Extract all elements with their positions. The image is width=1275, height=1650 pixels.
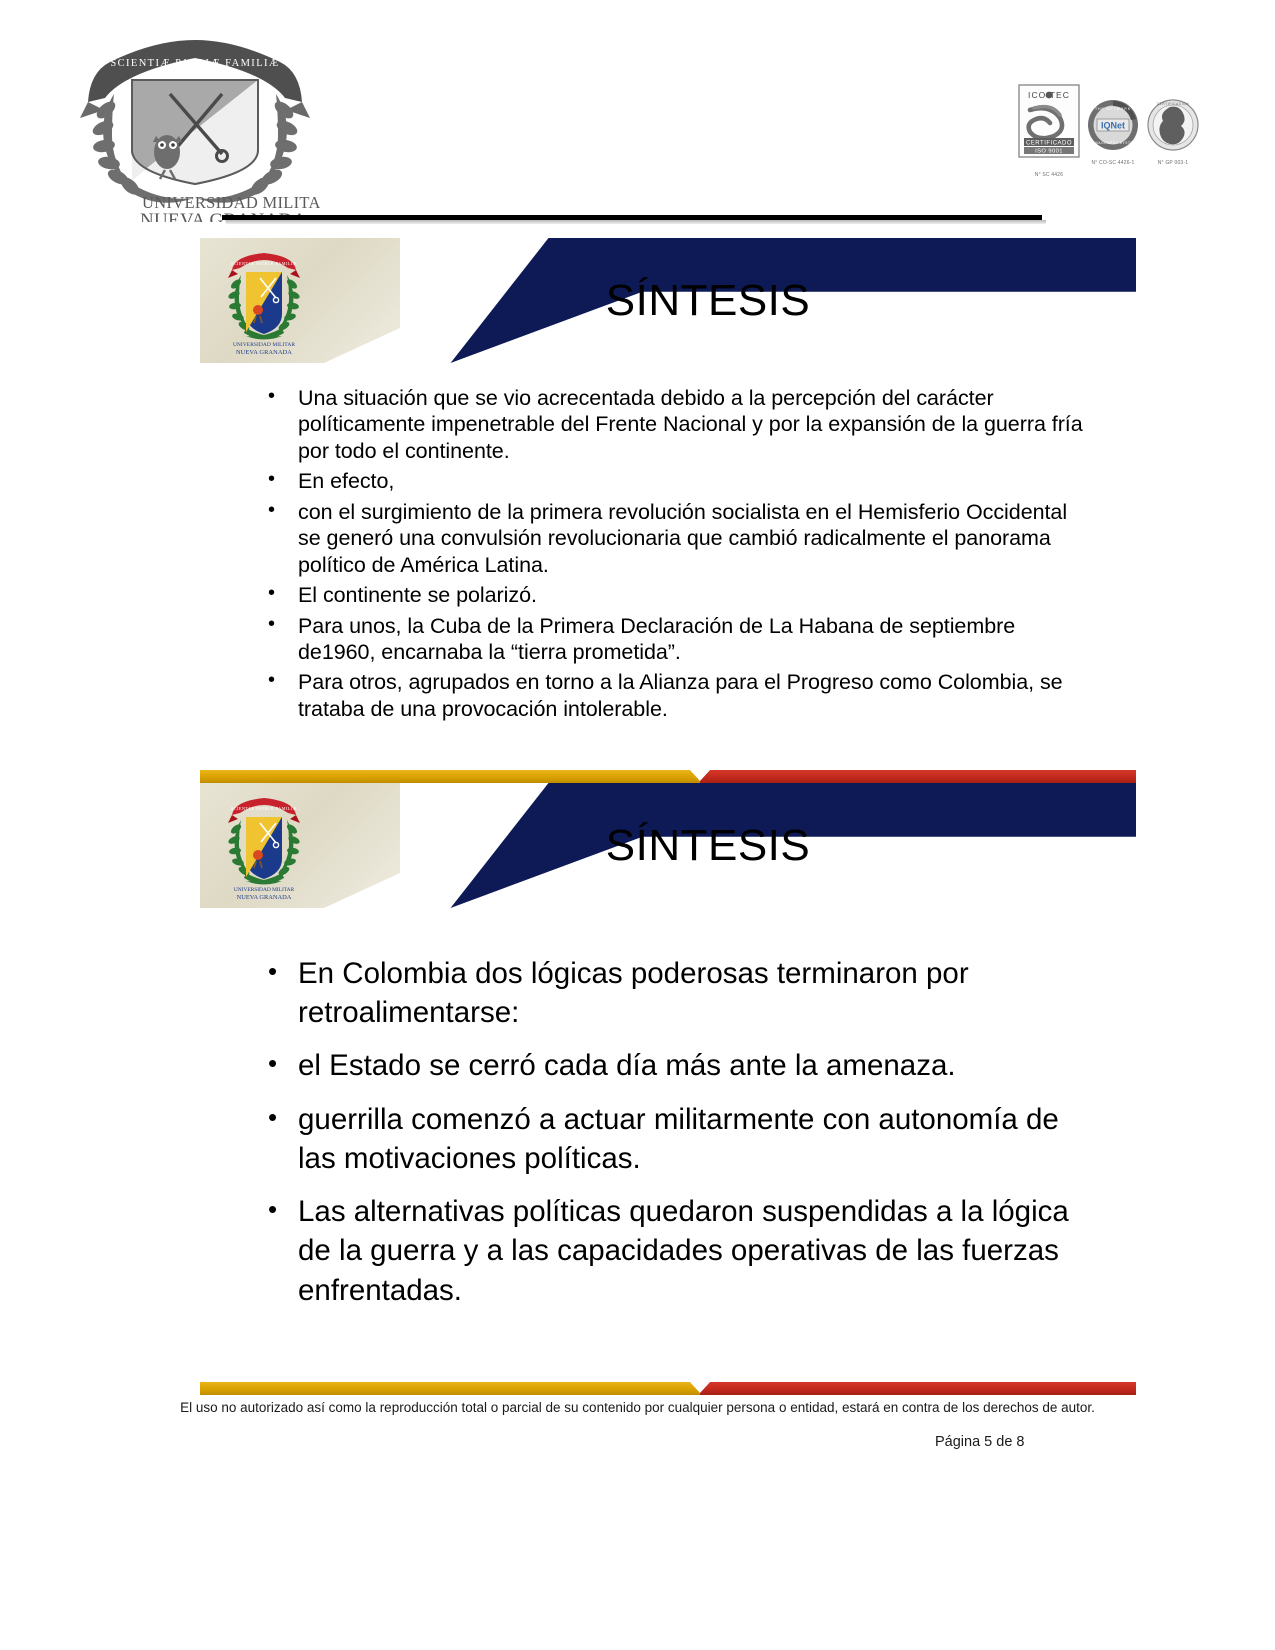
svg-text:SCIENTIÆ PATRIÆ FAMILIÆ: SCIENTIÆ PATRIÆ FAMILIÆ [231, 261, 297, 266]
svg-text:CERTIFICACIÓN: CERTIFICACIÓN [1157, 101, 1190, 106]
tricolor-red-segment [700, 770, 1136, 783]
slide-1-body: Una situación que se vio acrecentada deb… [200, 363, 1136, 736]
slide-2-crest: SCIENTIÆ PATRIÆ FAMILIÆ [224, 793, 304, 903]
list-item: con el surgimiento de la primera revoluc… [258, 499, 1086, 578]
header-rule-shadow [226, 220, 1046, 224]
university-crest-color-icon: SCIENTIÆ PATRIÆ FAMILIÆ [224, 248, 304, 358]
university-crest-color-icon: SCIENTIÆ PATRIÆ FAMILIÆ [224, 793, 304, 903]
slide-2-top-tricolor-bar [200, 770, 1136, 783]
slide-crest-label-2: NUEVA GRANADA [236, 349, 292, 356]
list-item: guerrilla comenzó a actuar militarmente … [258, 1100, 1088, 1178]
slide-crest-label-2: NUEVA GRANADA [237, 894, 292, 901]
tricolor-gold-segment [200, 1382, 700, 1395]
slide-2-header: SCIENTIÆ PATRIÆ FAMILIÆ [200, 783, 1136, 908]
list-item: Una situación que se vio acrecentada deb… [258, 385, 1086, 464]
tricolor-red-segment [700, 1382, 1136, 1395]
page-number: Página 5 de 8 [173, 1434, 1103, 1450]
list-item: Para otros, agrupados en torno a la Alia… [258, 669, 1086, 722]
slide-2-body: En Colombia dos lógicas poderosas termin… [200, 908, 1136, 1334]
list-item: Para unos, la Cuba de la Primera Declara… [258, 613, 1086, 666]
svg-text:SCIENTIÆ PATRIÆ FAMILIÆ: SCIENTIÆ PATRIÆ FAMILIÆ [231, 806, 297, 811]
svg-text:ISO 9001: ISO 9001 [1035, 149, 1063, 155]
header-divider-rule [222, 215, 1042, 224]
logo-motto-text: SCIENTIÆ PATRIÆ FAMILIÆ [110, 58, 279, 69]
slide-crest-label-1: UNIVERSIDAD MILITAR [233, 342, 295, 348]
slide-2-bottom-tricolor-bar [200, 1382, 1136, 1395]
slide-2-bottom-bar-wrap [200, 1382, 1136, 1395]
svg-text:IQNet: IQNet [1101, 121, 1125, 131]
icontec-certification: ICO TEC CERTIFICADO ISO 9001 N° SC 4426 [1018, 84, 1080, 178]
slide-1-bullet-list: Una situación que se vio acrecentada deb… [258, 385, 1086, 722]
page-footer: El uso no autorizado así como la reprodu… [0, 1398, 1275, 1450]
certification-logos: ICO TEC CERTIFICADO ISO 9001 N° SC 4426 … [1018, 84, 1200, 178]
list-item: En Colombia dos lógicas poderosas termin… [258, 954, 1088, 1032]
slide-crest-label-1: UNIVERSIDAD MILITAR [234, 887, 295, 893]
colombia-certification: CERTIFICACIÓN N° GP 003-1 [1146, 98, 1200, 166]
list-item: El continente se polarizó. [258, 582, 1086, 608]
page-header: SCIENTIÆ PATRIÆ FAMILIÆ [0, 0, 1275, 232]
iqnet-certification: IQNet THE NETWORK MANAGEMENT SYSTEM N° C… [1086, 98, 1140, 166]
slide-2-title: SÍNTESIS [200, 821, 1136, 871]
slide-2: SCIENTIÆ PATRIÆ FAMILIÆ [200, 770, 1136, 1395]
iqnet-seal-icon: IQNet THE NETWORK MANAGEMENT SYSTEM [1086, 98, 1140, 154]
colombia-code: N° GP 003-1 [1146, 160, 1200, 166]
tricolor-gold-segment [200, 770, 700, 783]
list-item: En efecto, [258, 468, 1086, 494]
slide-1-title: SÍNTESIS [200, 276, 1136, 326]
slide-2-bullet-list: En Colombia dos lógicas poderosas termin… [258, 954, 1088, 1310]
icontec-seal-icon: ICO TEC CERTIFICADO ISO 9001 [1018, 84, 1080, 166]
slide-1-header: SCIENTIÆ PATRIÆ FAMILIÆ [200, 238, 1136, 363]
svg-text:MANAGEMENT SYSTEM: MANAGEMENT SYSTEM [1090, 141, 1137, 145]
copyright-notice: El uso no autorizado así como la reprodu… [173, 1398, 1103, 1418]
list-item: Las alternativas políticas quedaron susp… [258, 1192, 1088, 1310]
svg-text:CERTIFICADO: CERTIFICADO [1026, 141, 1072, 147]
slide-1: SCIENTIÆ PATRIÆ FAMILIÆ [200, 238, 1136, 738]
list-item: el Estado se cerró cada día más ante la … [258, 1046, 1088, 1085]
slide-1-crest: SCIENTIÆ PATRIÆ FAMILIÆ [224, 248, 304, 358]
university-logo: SCIENTIÆ PATRIÆ FAMILIÆ [70, 32, 320, 222]
icontec-code: N° SC 4426 [1018, 172, 1080, 178]
university-crest-grayscale-icon: SCIENTIÆ PATRIÆ FAMILIÆ [70, 32, 320, 222]
iqnet-code: N° CO-SC 4426-1 [1086, 160, 1140, 166]
svg-text:THE NETWORK: THE NETWORK [1095, 107, 1131, 111]
colombia-map-seal-icon: CERTIFICACIÓN [1146, 98, 1200, 154]
